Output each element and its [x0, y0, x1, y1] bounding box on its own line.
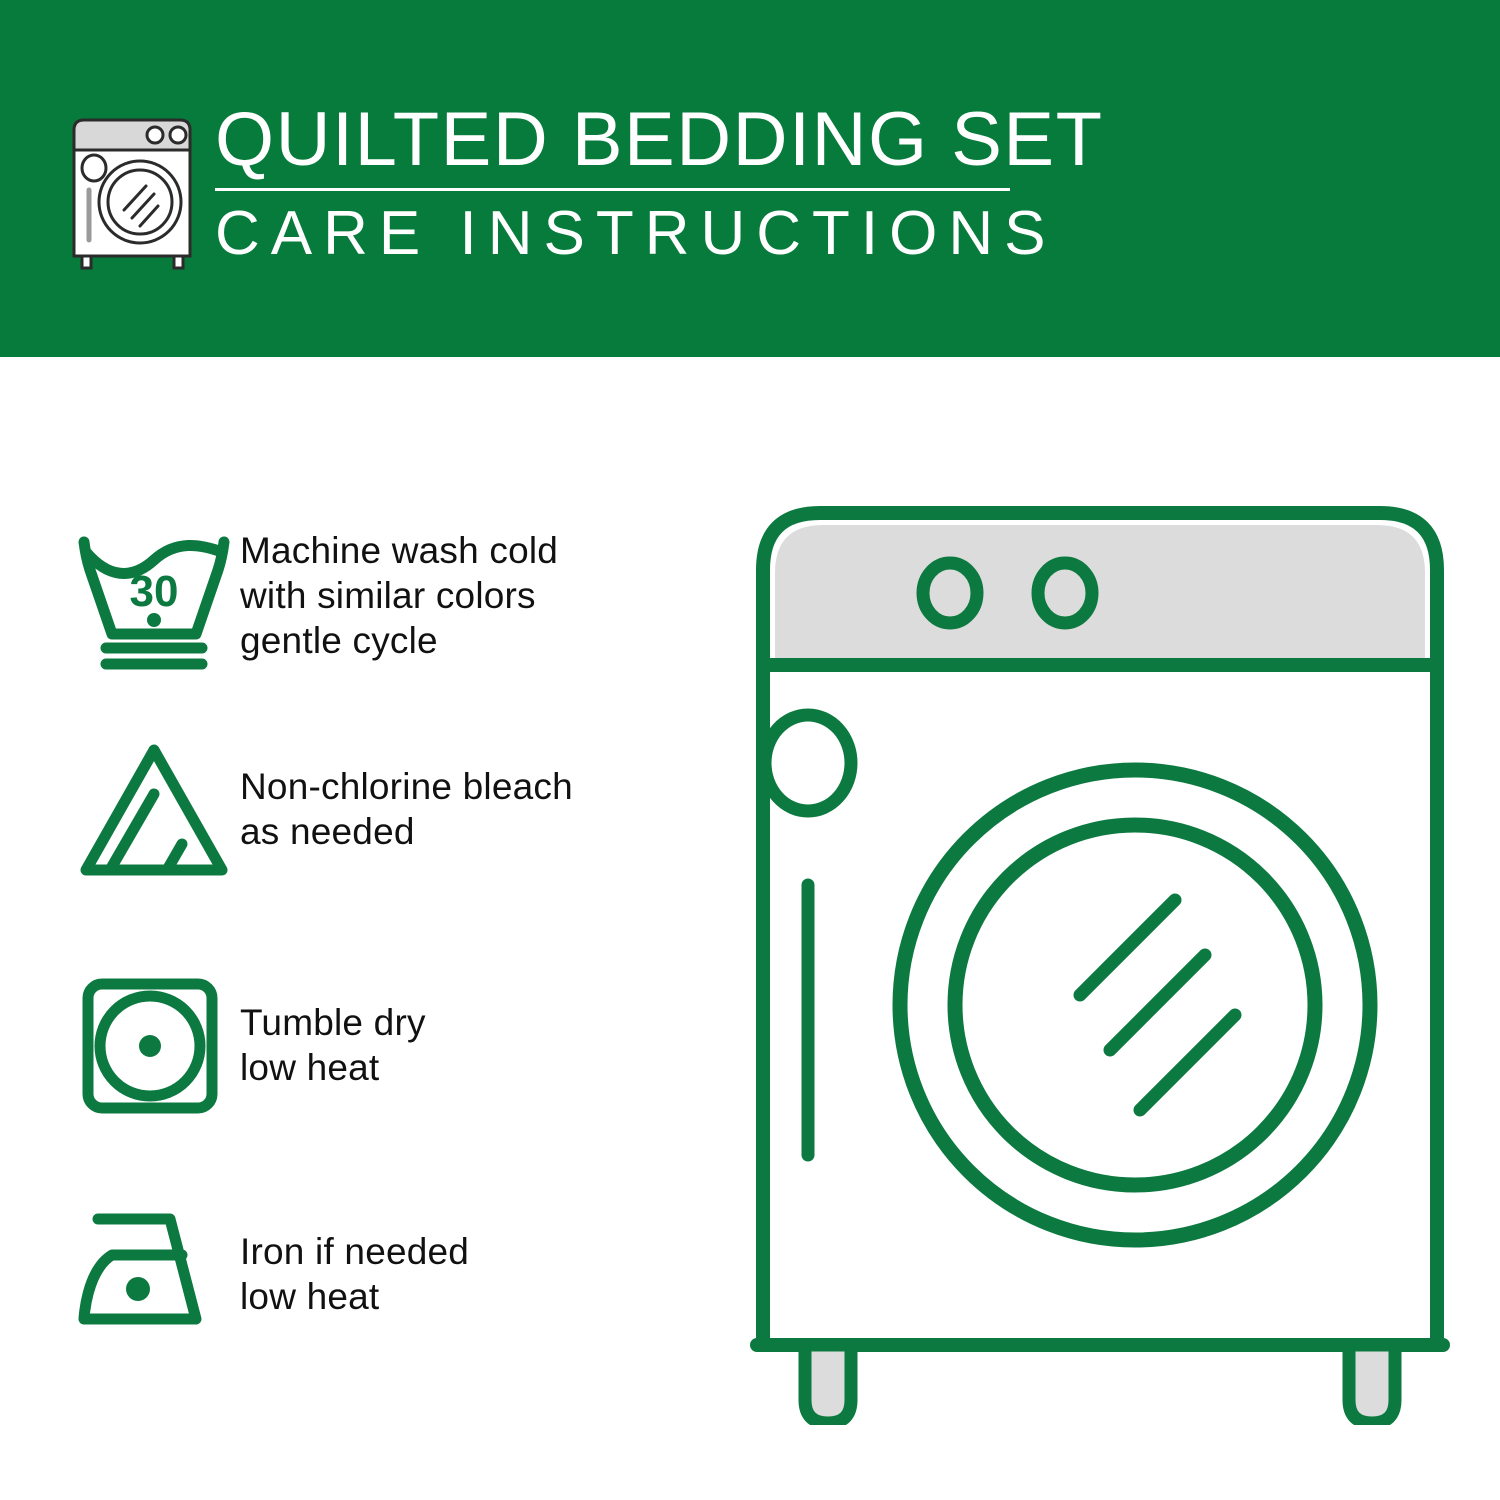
- care-text-bleach: Non-chlorine bleach as needed: [240, 732, 712, 854]
- care-line: low heat: [240, 1274, 712, 1319]
- care-row-bleach: Non-chlorine bleach as needed: [72, 732, 712, 882]
- drum-inner-ring: [955, 825, 1315, 1185]
- care-row-tumble-dry: Tumble dry low heat: [72, 970, 712, 1120]
- machine-wash-30-gentle-icon: 30: [72, 522, 240, 672]
- control-knob-left: [923, 563, 977, 623]
- title-divider: [215, 188, 1010, 191]
- care-line: Non-chlorine bleach: [240, 764, 712, 809]
- large-washing-machine-illustration: [745, 495, 1455, 1425]
- detergent-port-icon: [765, 715, 851, 811]
- page-title: QUILTED BEDDING SET: [215, 98, 1045, 182]
- wash-temperature-label: 30: [130, 567, 179, 616]
- care-line: low heat: [240, 1045, 712, 1090]
- care-row-machine-wash: 30 Machine wash cold with similar colors…: [72, 522, 712, 672]
- care-instructions-page: QUILTED BEDDING SET CARE INSTRUCTIONS: [0, 0, 1500, 1500]
- care-text-iron: Iron if needed low heat: [240, 1197, 712, 1319]
- leg-right: [1349, 1345, 1395, 1423]
- header-band: QUILTED BEDDING SET CARE INSTRUCTIONS: [0, 0, 1500, 357]
- control-knob-right: [1038, 563, 1092, 623]
- tumble-dry-low-icon: [72, 970, 240, 1120]
- care-line: as needed: [240, 809, 712, 854]
- page-subtitle: CARE INSTRUCTIONS: [215, 199, 1045, 269]
- leg-left: [805, 1345, 851, 1423]
- washing-machine-icon: [62, 106, 202, 272]
- care-line: Machine wash cold: [240, 528, 712, 573]
- care-row-iron: Iron if needed low heat: [72, 1197, 712, 1347]
- care-line: Iron if needed: [240, 1229, 712, 1274]
- care-line: gentle cycle: [240, 618, 712, 663]
- care-text-tumble-dry: Tumble dry low heat: [240, 970, 712, 1090]
- non-chlorine-bleach-triangle-icon: [72, 732, 240, 882]
- care-line: with similar colors: [240, 573, 712, 618]
- care-line: Tumble dry: [240, 1000, 712, 1045]
- iron-low-heat-icon: [72, 1197, 240, 1347]
- care-text-machine-wash: Machine wash cold with similar colors ge…: [240, 522, 712, 663]
- header-text-block: QUILTED BEDDING SET CARE INSTRUCTIONS: [215, 98, 1045, 269]
- care-instruction-list: 30 Machine wash cold with similar colors…: [0, 357, 720, 1500]
